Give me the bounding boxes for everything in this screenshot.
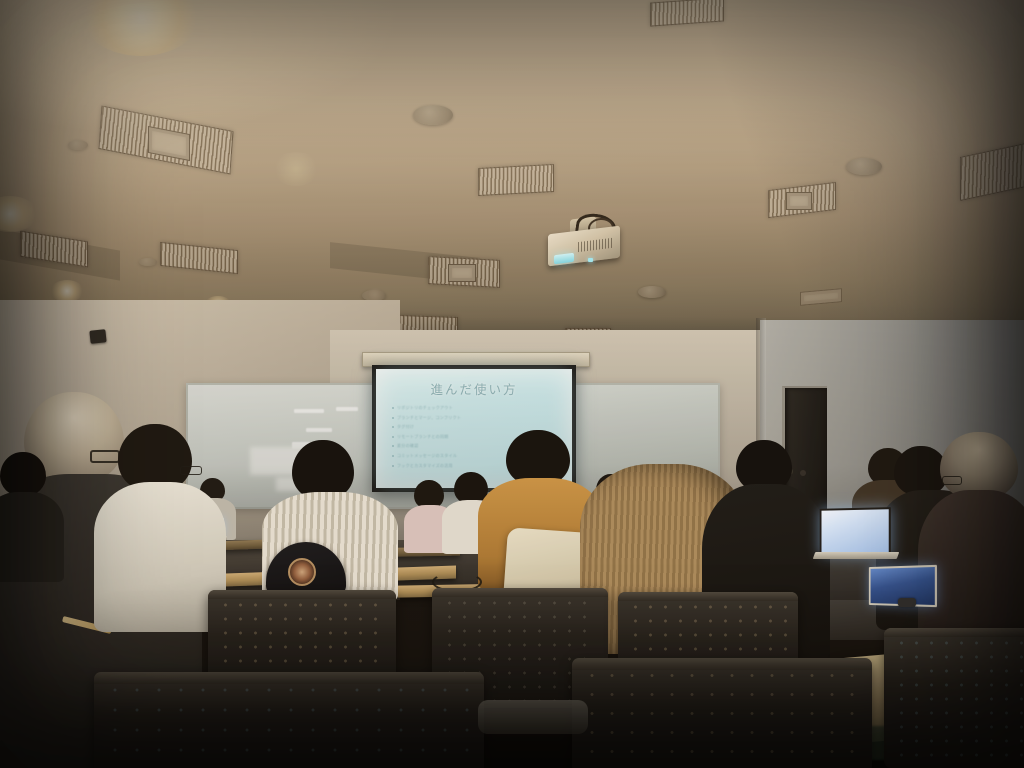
glasses-icon bbox=[180, 466, 202, 475]
chair-perforations bbox=[582, 666, 862, 768]
chair[interactable] bbox=[94, 672, 484, 768]
cap-emblem-icon bbox=[288, 558, 316, 586]
conference-room-photo: 進んだ使い方 リポジトリのチェックアウト ブランチとマージ、コンフリクト タグ付… bbox=[0, 0, 1024, 768]
laptop-keyboard bbox=[813, 552, 900, 559]
chair[interactable] bbox=[572, 658, 872, 768]
ceiling-projector bbox=[548, 214, 624, 268]
torso bbox=[94, 482, 226, 632]
glasses-icon bbox=[90, 450, 120, 463]
head bbox=[610, 398, 702, 474]
chair[interactable] bbox=[884, 628, 1024, 768]
laptop-screen bbox=[820, 507, 891, 557]
chair-perforations bbox=[104, 680, 474, 768]
head bbox=[292, 440, 354, 500]
glasses-icon bbox=[942, 476, 962, 485]
chair-perforations bbox=[894, 636, 1024, 761]
torso bbox=[0, 492, 64, 582]
chair-seat[interactable] bbox=[478, 700, 588, 734]
head bbox=[0, 452, 46, 496]
wristwatch bbox=[898, 598, 916, 607]
projector-led-icon bbox=[588, 258, 593, 262]
